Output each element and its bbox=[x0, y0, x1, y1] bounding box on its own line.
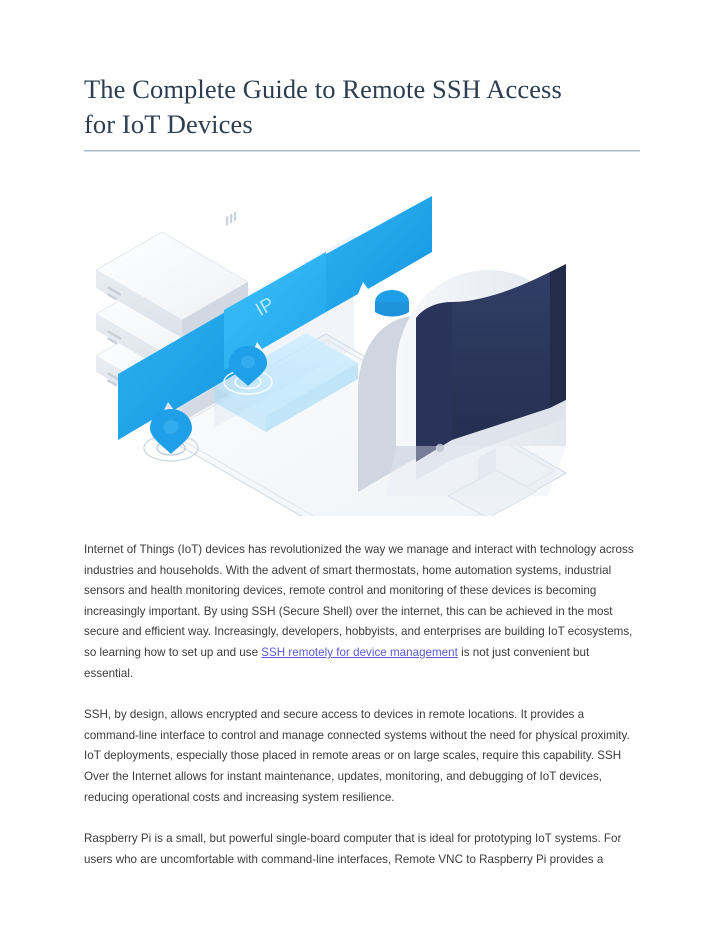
monitor-reflection bbox=[386, 446, 566, 496]
hero-illustration: IP bbox=[96, 196, 636, 516]
page-title: The Complete Guide to Remote SSH Access … bbox=[84, 72, 584, 142]
article-body: Internet of Things (IoT) devices has rev… bbox=[84, 540, 640, 870]
iot-isometric-graphic: IP bbox=[96, 196, 636, 516]
title-divider bbox=[84, 150, 640, 152]
ssh-remote-device-management-link[interactable]: SSH remotely for device management bbox=[261, 646, 458, 659]
paragraph-raspberry-pi: Raspberry Pi is a small, but powerful si… bbox=[84, 829, 640, 870]
paragraph-ssh-design: SSH, by design, allows encrypted and sec… bbox=[84, 705, 640, 808]
paragraph-intro: Internet of Things (IoT) devices has rev… bbox=[84, 540, 640, 684]
document-page: The Complete Guide to Remote SSH Access … bbox=[0, 0, 720, 931]
paragraph-intro-text-before-link: Internet of Things (IoT) devices has rev… bbox=[84, 543, 634, 659]
title-block: The Complete Guide to Remote SSH Access … bbox=[84, 0, 640, 152]
document-header: The Complete Guide to Remote SSH Access … bbox=[84, 0, 640, 152]
